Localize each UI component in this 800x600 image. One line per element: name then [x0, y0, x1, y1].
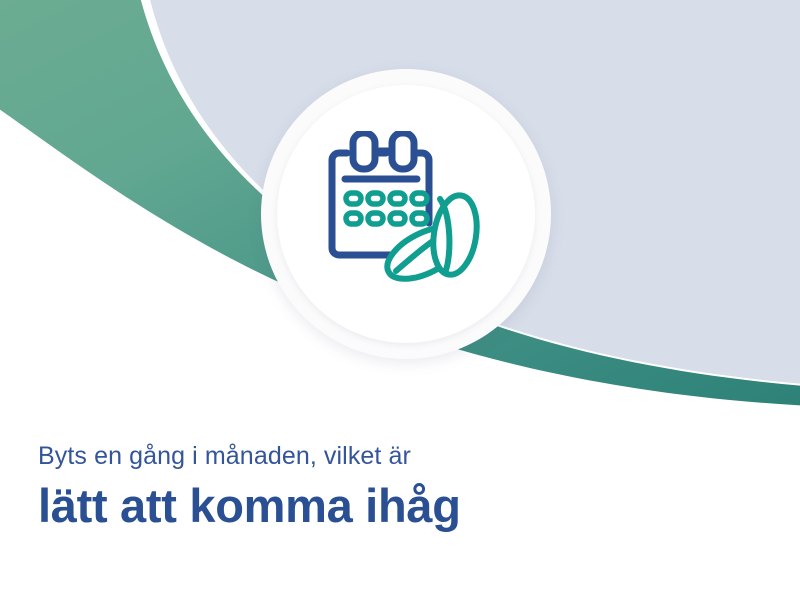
- caption-headline: lätt att komma ihåg: [38, 478, 758, 534]
- calendar-day-dot: [346, 213, 361, 224]
- promo-card: Byts en gång i månaden, vilket är lätt a…: [0, 0, 800, 600]
- calendar-day-dot: [368, 193, 383, 204]
- caption-eyebrow: Byts en gång i månaden, vilket är: [38, 440, 758, 472]
- contact-lens-standing: [428, 192, 482, 278]
- calendar-day-dot: [390, 213, 405, 224]
- calendar-day-dot: [390, 193, 405, 204]
- caption-block: Byts en gång i månaden, vilket är lätt a…: [38, 440, 758, 534]
- icon-badge: [261, 69, 551, 359]
- calendar-day-dot: [346, 193, 361, 204]
- calendar-day-dot: [368, 213, 383, 224]
- calendar-day-dot: [412, 213, 427, 224]
- calendar-with-contact-lenses-icon: [318, 131, 494, 297]
- calendar-day-dots: [346, 193, 427, 224]
- calendar-day-dot: [412, 193, 427, 204]
